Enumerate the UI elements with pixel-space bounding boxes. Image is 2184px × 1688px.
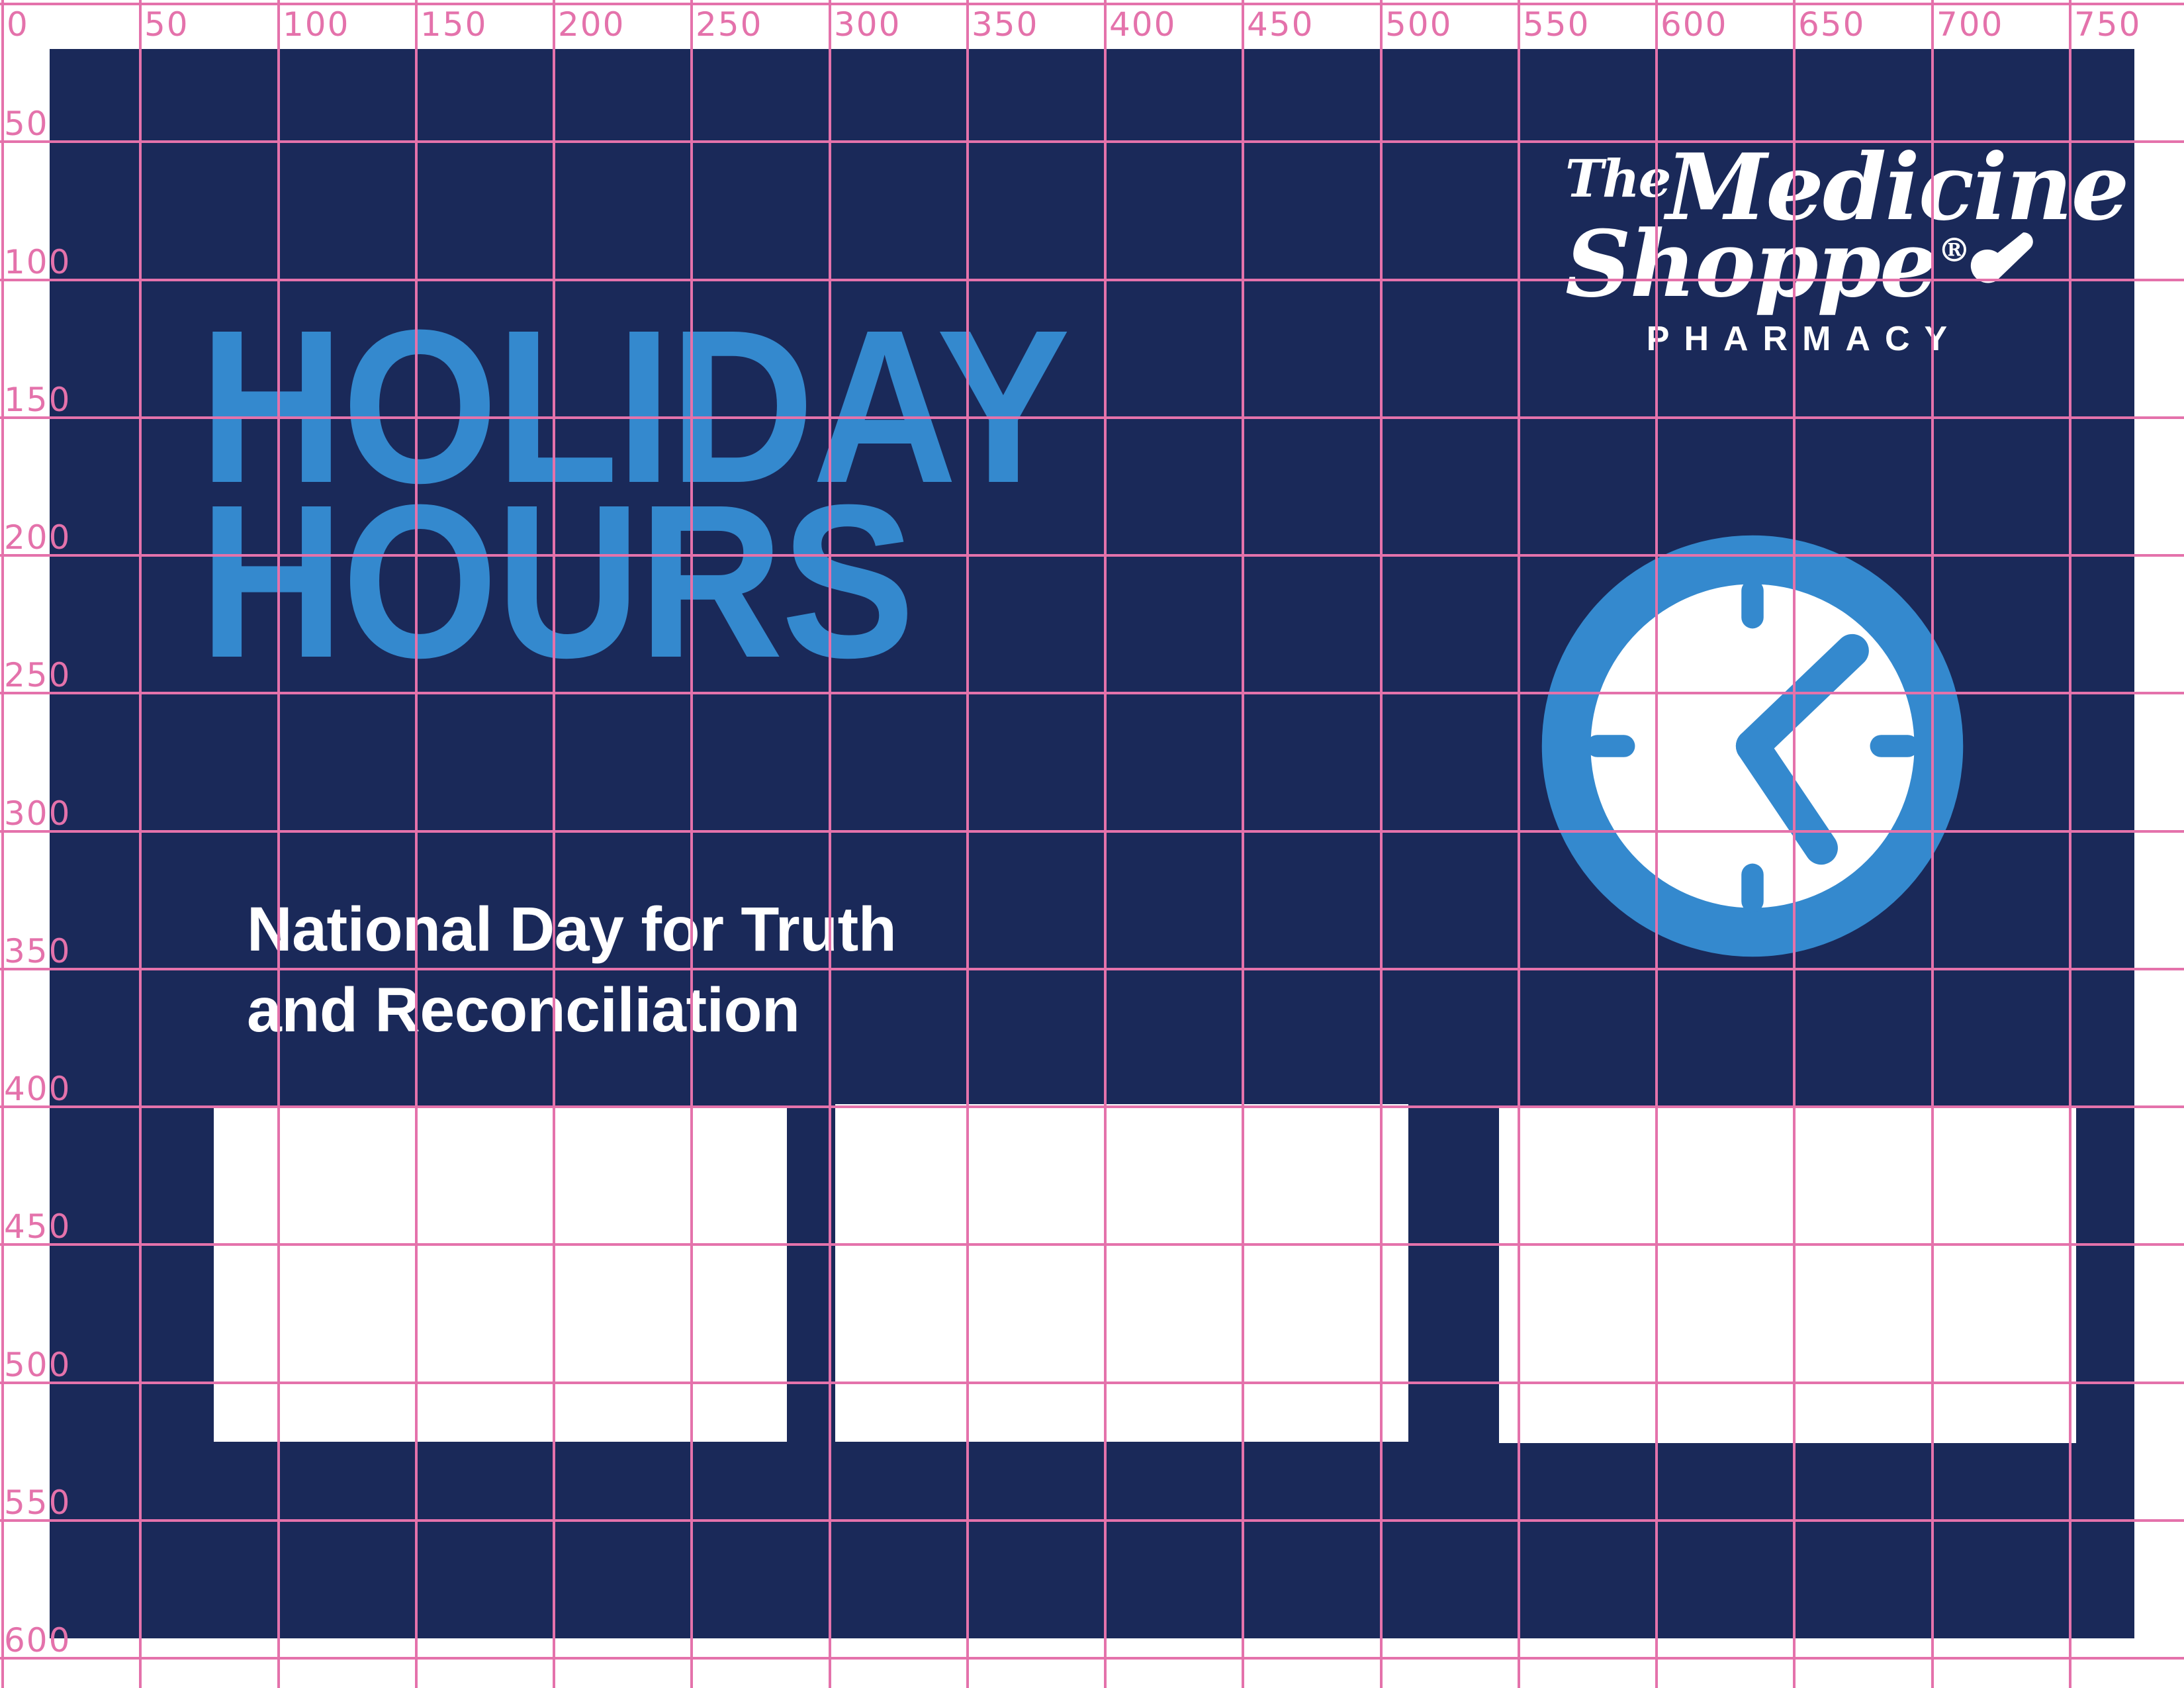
gridline-vertical bbox=[1, 0, 4, 1688]
ruler-label-x: 450 bbox=[1247, 5, 1314, 44]
gridline-horizontal bbox=[0, 3, 2184, 5]
ruler-label-x: 350 bbox=[972, 5, 1038, 44]
ruler-label-x: 750 bbox=[2074, 5, 2141, 44]
poster-artboard: TheMedicine Shoppe® PHARMACY HOLIDAY HOU… bbox=[50, 49, 2134, 1638]
ruler-label-x: 150 bbox=[420, 5, 487, 44]
hours-placeholder-box-1[interactable] bbox=[214, 1108, 787, 1442]
ruler-label-x: 100 bbox=[283, 5, 349, 44]
medicine-shoppe-logo: TheMedicine Shoppe® PHARMACY bbox=[1565, 142, 2028, 356]
logo-line-two: Shoppe® bbox=[1565, 218, 2028, 310]
ruler-label-x: 600 bbox=[1661, 5, 1727, 44]
ruler-label-x: 400 bbox=[1109, 5, 1176, 44]
hours-placeholder-box-2[interactable] bbox=[835, 1104, 1408, 1442]
hours-placeholder-box-3[interactable] bbox=[1499, 1107, 2076, 1443]
page-title: HOLIDAY HOURS bbox=[199, 319, 1068, 669]
ruler-label-x: 550 bbox=[1523, 5, 1590, 44]
gridline-horizontal bbox=[0, 1657, 2184, 1660]
registered-trademark-icon: ® bbox=[1938, 230, 1970, 269]
logo-shoppe-word: Shoppe bbox=[1565, 210, 1936, 318]
page-subtitle: National Day for Truth and Reconciliatio… bbox=[247, 890, 896, 1051]
ruler-label-x: 650 bbox=[1798, 5, 1865, 44]
ruler-label-x: 300 bbox=[834, 5, 901, 44]
ruler-label-x: 200 bbox=[558, 5, 625, 44]
ruler-label-x: 0 bbox=[7, 5, 29, 44]
clock-icon bbox=[1531, 524, 1974, 968]
logo-tagline: PHARMACY bbox=[1580, 322, 2028, 356]
mortar-pestle-icon bbox=[1963, 222, 2038, 315]
ruler-label-y: 50 bbox=[4, 105, 49, 143]
ruler-label-x: 500 bbox=[1385, 5, 1452, 44]
ruler-label-x: 50 bbox=[144, 5, 189, 44]
logo-the-word: The bbox=[1565, 149, 1670, 209]
ruler-label-x: 250 bbox=[696, 5, 762, 44]
ruler-label-y: 0 bbox=[4, 0, 26, 5]
ruler-label-x: 700 bbox=[1936, 5, 2003, 44]
